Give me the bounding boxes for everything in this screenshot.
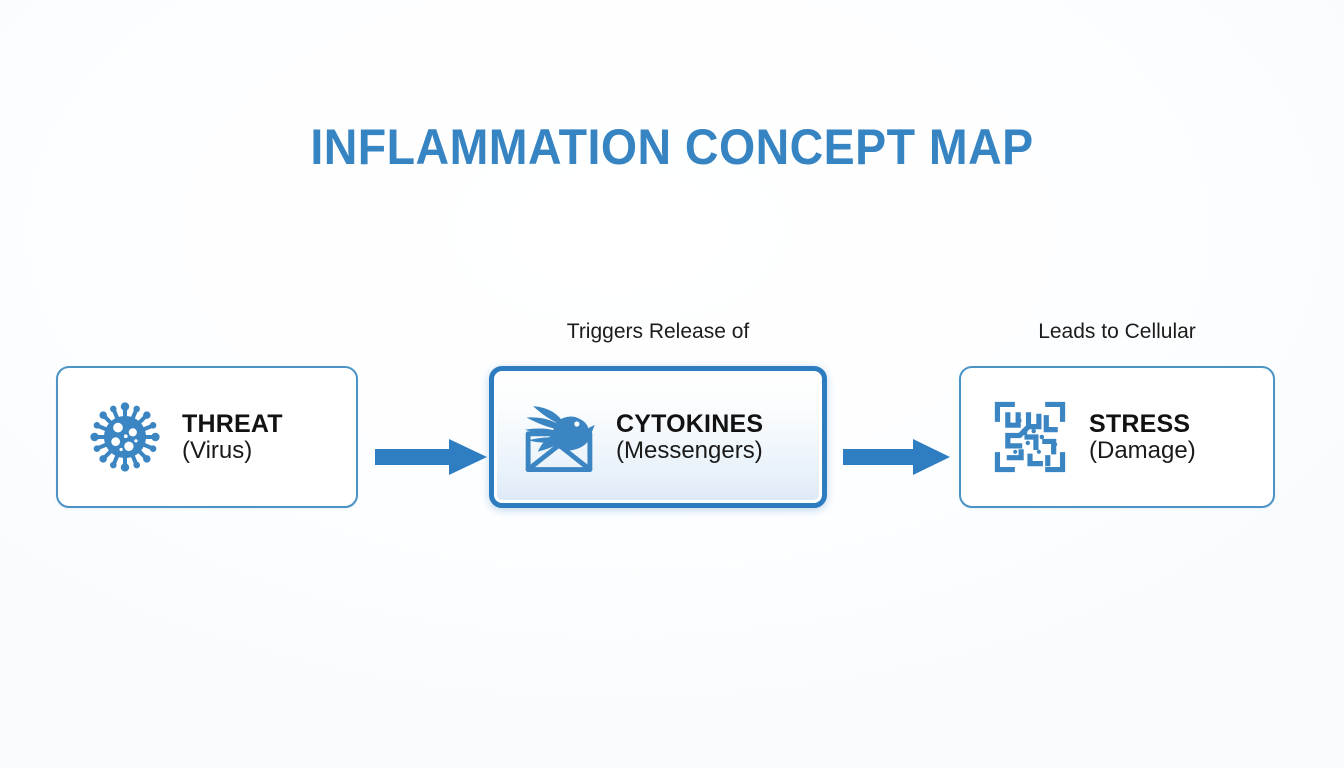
virus-icon xyxy=(86,398,164,476)
concept-map-flow: THREAT (Virus) Triggers Release of xyxy=(0,320,1344,530)
node-threat[interactable]: THREAT (Virus) xyxy=(56,366,358,508)
node-stress-title: STRESS xyxy=(1089,410,1190,438)
cellular-damage-icon xyxy=(993,400,1067,474)
arrow-right-icon-threat-to-cytokines xyxy=(375,438,488,481)
node-stress[interactable]: STRESS (Damage) xyxy=(959,366,1275,508)
node-threat-subtitle: (Virus) xyxy=(182,438,252,465)
arrow-right-icon-cytokines-to-stress xyxy=(843,438,951,481)
node-cytokines-title: CYTOKINES xyxy=(616,410,763,438)
node-cytokines-subtitle: (Messengers) xyxy=(616,438,763,465)
node-stress-subtitle: (Damage) xyxy=(1089,438,1196,465)
connector-label-triggers-release-of: Triggers Release of xyxy=(489,320,827,344)
connector-label-leads-to-cellular: Leads to Cellular xyxy=(959,320,1275,344)
node-cytokines[interactable]: CYTOKINES (Messengers) xyxy=(489,366,827,508)
node-cytokines-text: CYTOKINES (Messengers) xyxy=(616,410,763,465)
page-title: INFLAMMATION CONCEPT MAP xyxy=(47,118,1297,176)
node-threat-title: THREAT xyxy=(182,410,283,438)
node-stress-text: STRESS (Damage) xyxy=(1089,410,1196,465)
messenger-bird-envelope-icon xyxy=(518,398,600,476)
node-threat-text: THREAT (Virus) xyxy=(182,410,283,465)
